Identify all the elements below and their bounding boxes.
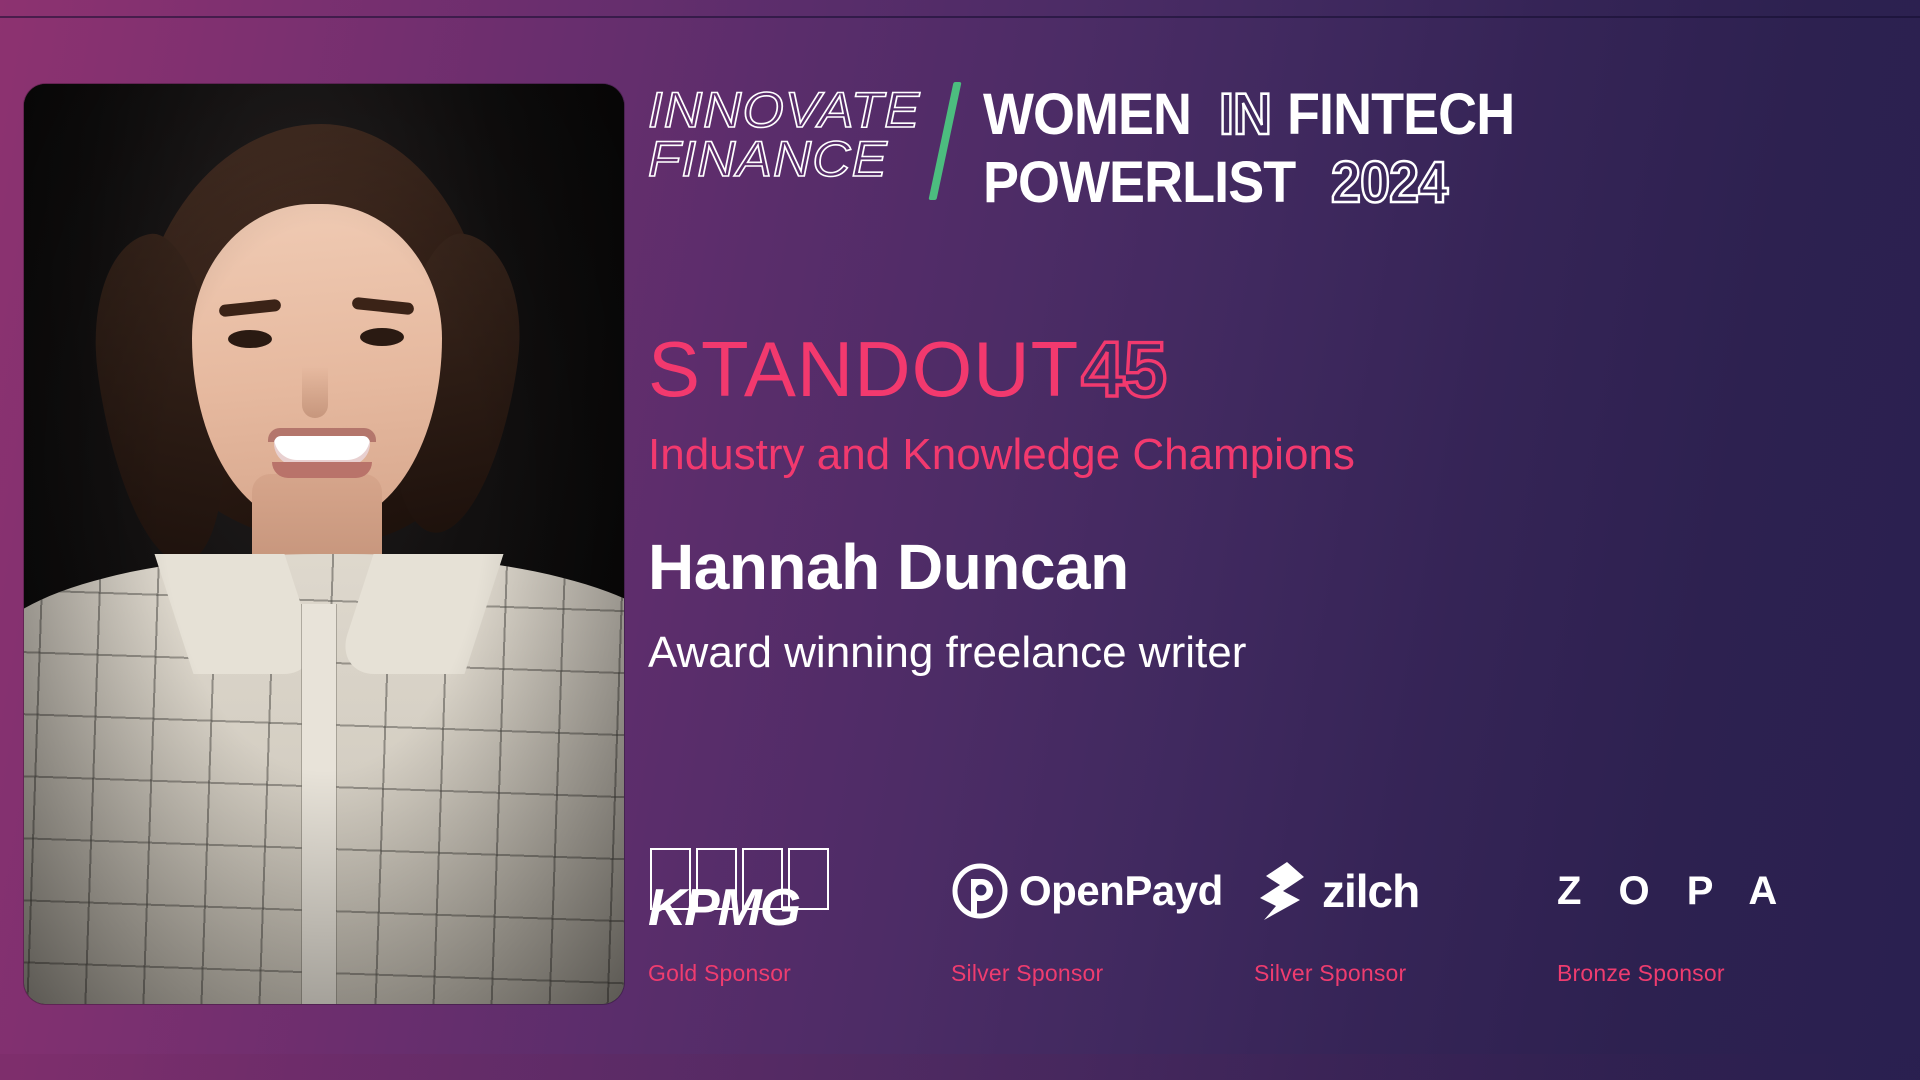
innovate-finance-line1: INNOVATE (648, 86, 921, 135)
innovate-finance-logo: INNOVATE FINANCE (648, 86, 921, 184)
powerlist-title: WOMEN IN FINTECH POWERLIST 2024 (983, 86, 1531, 212)
award-category-number: 45 (1081, 330, 1166, 408)
title-word-year: 2024 (1331, 154, 1447, 212)
zilch-bolt-icon (1254, 860, 1310, 922)
openpayd-circle-p-icon (951, 862, 1009, 920)
title-word-powerlist: POWERLIST (983, 154, 1295, 212)
page-title: Hannah Duncan (648, 530, 1129, 604)
sponsor-row: KPMG Gold Sponsor (648, 848, 1860, 987)
slide-canvas: INNOVATE FINANCE WOMEN IN FINTECH POWERL… (0, 0, 1920, 1080)
bottom-edge-band (0, 1054, 1920, 1080)
portrait-photo (24, 84, 624, 1004)
person-role: Award winning freelance writer (648, 628, 1246, 678)
title-word-in: IN (1219, 86, 1271, 144)
sponsor-zopa: Z O P A Bronze Sponsor (1557, 848, 1860, 987)
zopa-wordmark: Z O P A (1557, 869, 1790, 914)
sponsor-openpayd: OpenPayd Silver Sponsor (951, 848, 1254, 987)
sponsor-zilch: zilch Silver Sponsor (1254, 848, 1557, 987)
header-lockup: INNOVATE FINANCE WOMEN IN FINTECH POWERL… (648, 86, 1531, 212)
kpmg-logo: KPMG (648, 848, 951, 934)
sponsor-tier-label: Silver Sponsor (1254, 960, 1557, 987)
zilch-wordmark: zilch (1322, 864, 1419, 918)
award-category-subtitle: Industry and Knowledge Champions (648, 430, 1355, 480)
title-word-fintech: FINTECH (1287, 86, 1514, 144)
title-word-women: WOMEN (983, 86, 1191, 144)
openpayd-logo: OpenPayd (951, 848, 1254, 934)
kpmg-wordmark: KPMG (648, 878, 799, 938)
photo-vignette (24, 84, 624, 1004)
innovate-finance-line2: FINANCE (648, 135, 921, 184)
sponsor-kpmg: KPMG Gold Sponsor (648, 848, 951, 987)
zopa-logo: Z O P A (1557, 848, 1860, 934)
zilch-logo: zilch (1254, 848, 1557, 934)
sponsor-tier-label: Silver Sponsor (951, 960, 1254, 987)
content-column: INNOVATE FINANCE WOMEN IN FINTECH POWERL… (648, 0, 1920, 1080)
powerlist-title-line1: WOMEN IN FINTECH (983, 86, 1531, 144)
green-slash-icon (929, 82, 962, 200)
openpayd-wordmark: OpenPayd (1019, 867, 1223, 915)
powerlist-title-line2: POWERLIST 2024 (983, 154, 1531, 212)
sponsor-tier-label: Gold Sponsor (648, 960, 951, 987)
sponsor-tier-label: Bronze Sponsor (1557, 960, 1860, 987)
award-category: STANDOUT 45 (648, 330, 1166, 408)
portrait-image (24, 84, 624, 1004)
award-category-word: STANDOUT (648, 330, 1079, 408)
